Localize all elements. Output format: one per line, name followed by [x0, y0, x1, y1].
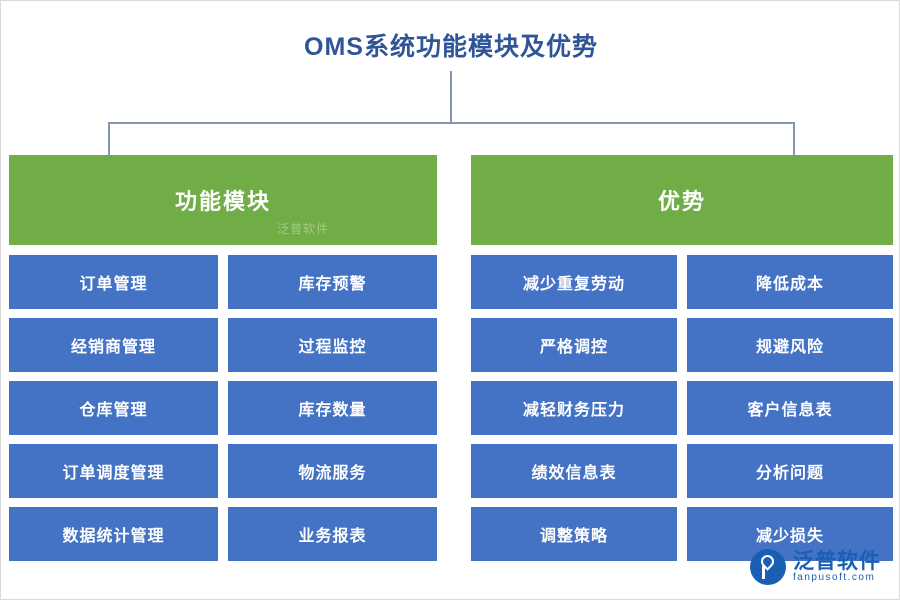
diagram-canvas: OMS系统功能模块及优势 功能模块 泛普软件 订单管理 库存预警 经销商管理 过… [0, 0, 900, 600]
group-header-label: 功能模块 [175, 184, 271, 216]
module-cell[interactable]: 库存数量 [228, 381, 437, 435]
page-title: OMS系统功能模块及优势 [1, 27, 900, 63]
advantage-cell[interactable]: 调整策略 [471, 507, 677, 561]
watermark-text: 泛普软件 [277, 220, 329, 237]
group-header-label: 优势 [658, 184, 706, 216]
group-advantages: 优势 减少重复劳动 降低成本 严格调控 规避风险 减轻财务压力 客户信息表 绩效… [471, 155, 893, 561]
module-cell[interactable]: 库存预警 [228, 255, 437, 309]
logo-mark-icon [750, 549, 786, 585]
logo-name-en: fanpusoft.com [793, 573, 881, 584]
advantage-cell[interactable]: 规避风险 [687, 318, 893, 372]
group-header-advantages: 优势 [471, 155, 893, 245]
module-cell[interactable]: 过程监控 [228, 318, 437, 372]
cell-grid-function-modules: 订单管理 库存预警 经销商管理 过程监控 仓库管理 库存数量 订单调度管理 物流… [9, 255, 437, 561]
connector-vertical-left [108, 122, 110, 155]
advantage-cell[interactable]: 客户信息表 [687, 381, 893, 435]
module-cell[interactable]: 物流服务 [228, 444, 437, 498]
group-function-modules: 功能模块 泛普软件 订单管理 库存预警 经销商管理 过程监控 仓库管理 库存数量… [9, 155, 437, 561]
advantage-cell[interactable]: 分析问题 [687, 444, 893, 498]
cell-grid-advantages: 减少重复劳动 降低成本 严格调控 规避风险 减轻财务压力 客户信息表 绩效信息表… [471, 255, 893, 561]
module-cell[interactable]: 经销商管理 [9, 318, 218, 372]
connector-vertical-right [793, 122, 795, 155]
module-cell[interactable]: 订单调度管理 [9, 444, 218, 498]
module-cell[interactable]: 仓库管理 [9, 381, 218, 435]
brand-logo: 泛普软件 fanpusoft.com [750, 549, 881, 585]
logo-text: 泛普软件 fanpusoft.com [793, 551, 881, 584]
module-cell[interactable]: 数据统计管理 [9, 507, 218, 561]
advantage-cell[interactable]: 减轻财务压力 [471, 381, 677, 435]
connector-vertical-top [450, 71, 452, 123]
advantage-cell[interactable]: 严格调控 [471, 318, 677, 372]
connector-horizontal [108, 122, 794, 124]
advantage-cell[interactable]: 降低成本 [687, 255, 893, 309]
advantage-cell[interactable]: 绩效信息表 [471, 444, 677, 498]
advantage-cell[interactable]: 减少重复劳动 [471, 255, 677, 309]
module-cell[interactable]: 订单管理 [9, 255, 218, 309]
module-cell[interactable]: 业务报表 [228, 507, 437, 561]
logo-name-cn: 泛普软件 [793, 551, 881, 573]
group-header-function-modules: 功能模块 泛普软件 [9, 155, 437, 245]
